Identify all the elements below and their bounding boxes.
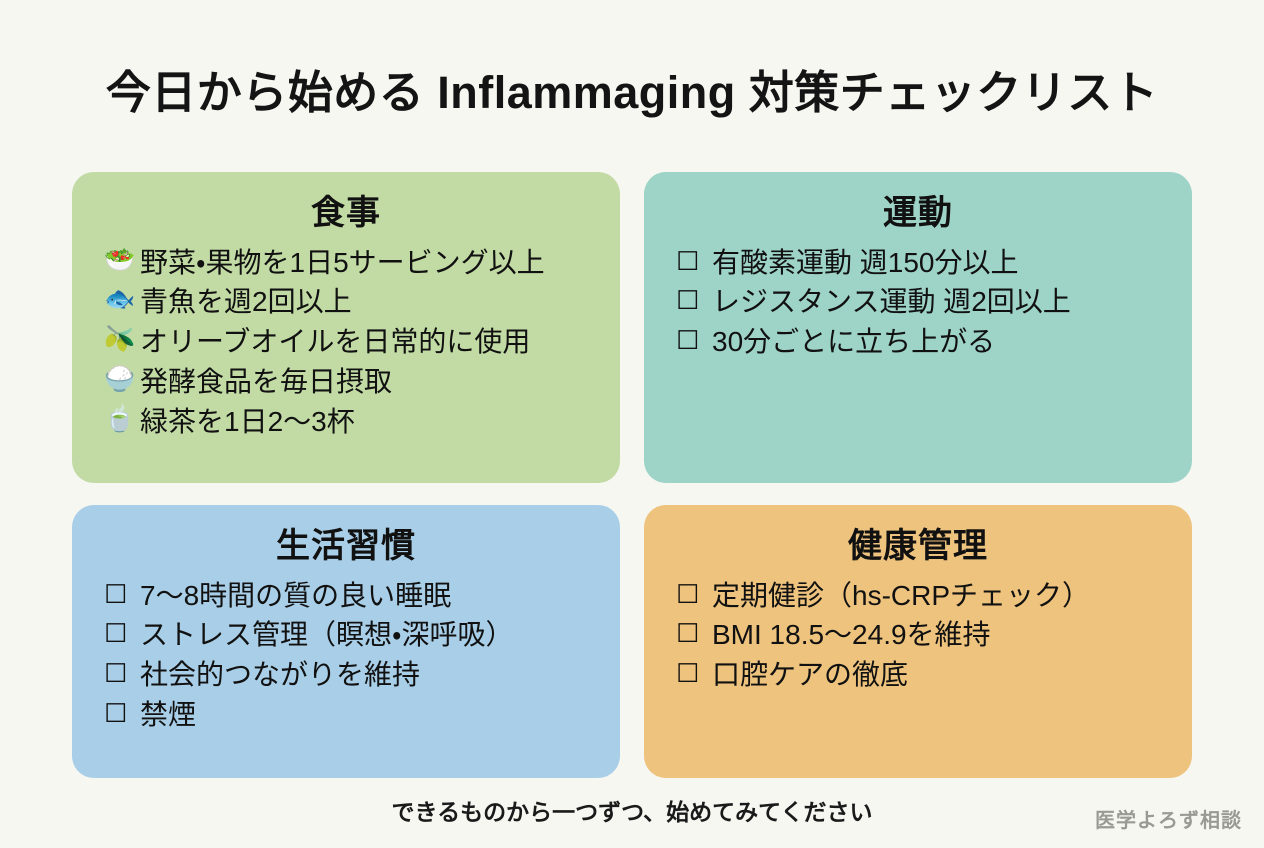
checklist-item-label: オリーブオイルを日常的に使用: [140, 322, 530, 362]
checklist-item-label: ストレス管理（瞑想・深呼吸）: [140, 615, 514, 655]
checklist-item[interactable]: ☐有酸素運動 週150分以上: [676, 243, 1170, 283]
page-title: 今日から始める Inflammaging 対策チェックリスト: [0, 66, 1264, 120]
card-title-exercise: 運動: [666, 192, 1170, 235]
checklist-item[interactable]: 🐟青魚を週2回以上: [104, 282, 598, 322]
checklist-item[interactable]: ☐禁煙: [104, 695, 598, 735]
checklist-item[interactable]: ☐ストレス管理（瞑想・深呼吸）: [104, 615, 598, 655]
checkbox-icon[interactable]: ☐: [104, 615, 138, 652]
checklist-items-diet: 🥗野菜・果物を1日5サービング以上🐟青魚を週2回以上🫒オリーブオイルを日常的に使…: [94, 243, 598, 442]
checklist-items-exercise: ☐有酸素運動 週150分以上☐レジスタンス運動 週2回以上☐30分ごとに立ち上が…: [666, 243, 1170, 362]
checklist-item-label: 野菜・果物を1日5サービング以上: [140, 243, 545, 283]
checklist-item-label: 禁煙: [140, 695, 196, 735]
checklist-item-label: 青魚を週2回以上: [140, 282, 352, 322]
checklist-item-label: 社会的つながりを維持: [140, 655, 420, 695]
card-title-lifestyle: 生活習慣: [94, 525, 598, 568]
checklist-item[interactable]: ☐30分ごとに立ち上がる: [676, 322, 1170, 362]
checkbox-icon[interactable]: ☐: [676, 615, 710, 652]
rice-bowl-icon: 🍚: [104, 362, 138, 398]
checklist-item-label: BMI 18.5〜24.9を維持: [712, 615, 991, 655]
checkbox-icon[interactable]: ☐: [676, 655, 710, 692]
checklist-card-diet: 食事🥗野菜・果物を1日5サービング以上🐟青魚を週2回以上🫒オリーブオイルを日常的…: [72, 172, 620, 483]
checklist-item-label: 7〜8時間の質の良い睡眠: [140, 576, 451, 616]
card-title-health-management: 健康管理: [666, 525, 1170, 568]
fish-icon: 🐟: [104, 282, 138, 318]
checklist-infographic: 今日から始める Inflammaging 対策チェックリスト 食事🥗野菜・果物を…: [0, 0, 1264, 848]
checkbox-icon[interactable]: ☐: [676, 243, 710, 280]
checklist-item-label: 緑茶を1日2〜3杯: [140, 402, 355, 442]
card-title-diet: 食事: [94, 192, 598, 235]
checklist-item[interactable]: ☐定期健診（hs-CRPチェック）: [676, 576, 1170, 616]
checklist-item-label: 定期健診（hs-CRPチェック）: [712, 576, 1090, 616]
checklist-item[interactable]: ☐レジスタンス運動 週2回以上: [676, 282, 1170, 322]
checklist-items-health-management: ☐定期健診（hs-CRPチェック）☐BMI 18.5〜24.9を維持☐口腔ケアの…: [666, 576, 1170, 695]
salad-icon: 🥗: [104, 243, 138, 279]
checklist-card-exercise: 運動☐有酸素運動 週150分以上☐レジスタンス運動 週2回以上☐30分ごとに立ち…: [644, 172, 1192, 483]
checklist-item[interactable]: ☐口腔ケアの徹底: [676, 655, 1170, 695]
checklist-item[interactable]: ☐社会的つながりを維持: [104, 655, 598, 695]
checkbox-icon[interactable]: ☐: [104, 695, 138, 732]
checklist-item[interactable]: 🥗野菜・果物を1日5サービング以上: [104, 243, 598, 283]
green-tea-icon: 🍵: [104, 402, 138, 438]
checklist-card-lifestyle: 生活習慣☐7〜8時間の質の良い睡眠☐ストレス管理（瞑想・深呼吸）☐社会的つながり…: [72, 505, 620, 778]
checklist-item[interactable]: ☐7〜8時間の質の良い睡眠: [104, 576, 598, 616]
checkbox-icon[interactable]: ☐: [104, 576, 138, 613]
checklist-item-label: レジスタンス運動 週2回以上: [712, 282, 1071, 322]
checkbox-icon[interactable]: ☐: [676, 322, 710, 359]
checklist-item-label: 30分ごとに立ち上がる: [712, 322, 995, 362]
checklist-card-health-management: 健康管理☐定期健診（hs-CRPチェック）☐BMI 18.5〜24.9を維持☐口…: [644, 505, 1192, 778]
checklist-item-label: 口腔ケアの徹底: [712, 655, 908, 695]
checklist-items-lifestyle: ☐7〜8時間の質の良い睡眠☐ストレス管理（瞑想・深呼吸）☐社会的つながりを維持☐…: [94, 576, 598, 735]
checklist-item[interactable]: 🫒オリーブオイルを日常的に使用: [104, 322, 598, 362]
olive-oil-icon: 🫒: [104, 322, 138, 358]
checklist-item-label: 有酸素運動 週150分以上: [712, 243, 1019, 283]
checkbox-icon[interactable]: ☐: [676, 282, 710, 319]
checklist-item[interactable]: ☐BMI 18.5〜24.9を維持: [676, 615, 1170, 655]
checkbox-icon[interactable]: ☐: [676, 576, 710, 613]
checklist-item[interactable]: 🍵緑茶を1日2〜3杯: [104, 402, 598, 442]
checklist-item-label: 発酵食品を毎日摂取: [140, 362, 392, 402]
checklist-card-grid: 食事🥗野菜・果物を1日5サービング以上🐟青魚を週2回以上🫒オリーブオイルを日常的…: [72, 172, 1192, 778]
checkbox-icon[interactable]: ☐: [104, 655, 138, 692]
footer-note: できるものから一つずつ、始めてみてください: [0, 793, 1264, 827]
checklist-item[interactable]: 🍚発酵食品を毎日摂取: [104, 362, 598, 402]
watermark-credit: 医学よろず相談: [1095, 804, 1242, 833]
